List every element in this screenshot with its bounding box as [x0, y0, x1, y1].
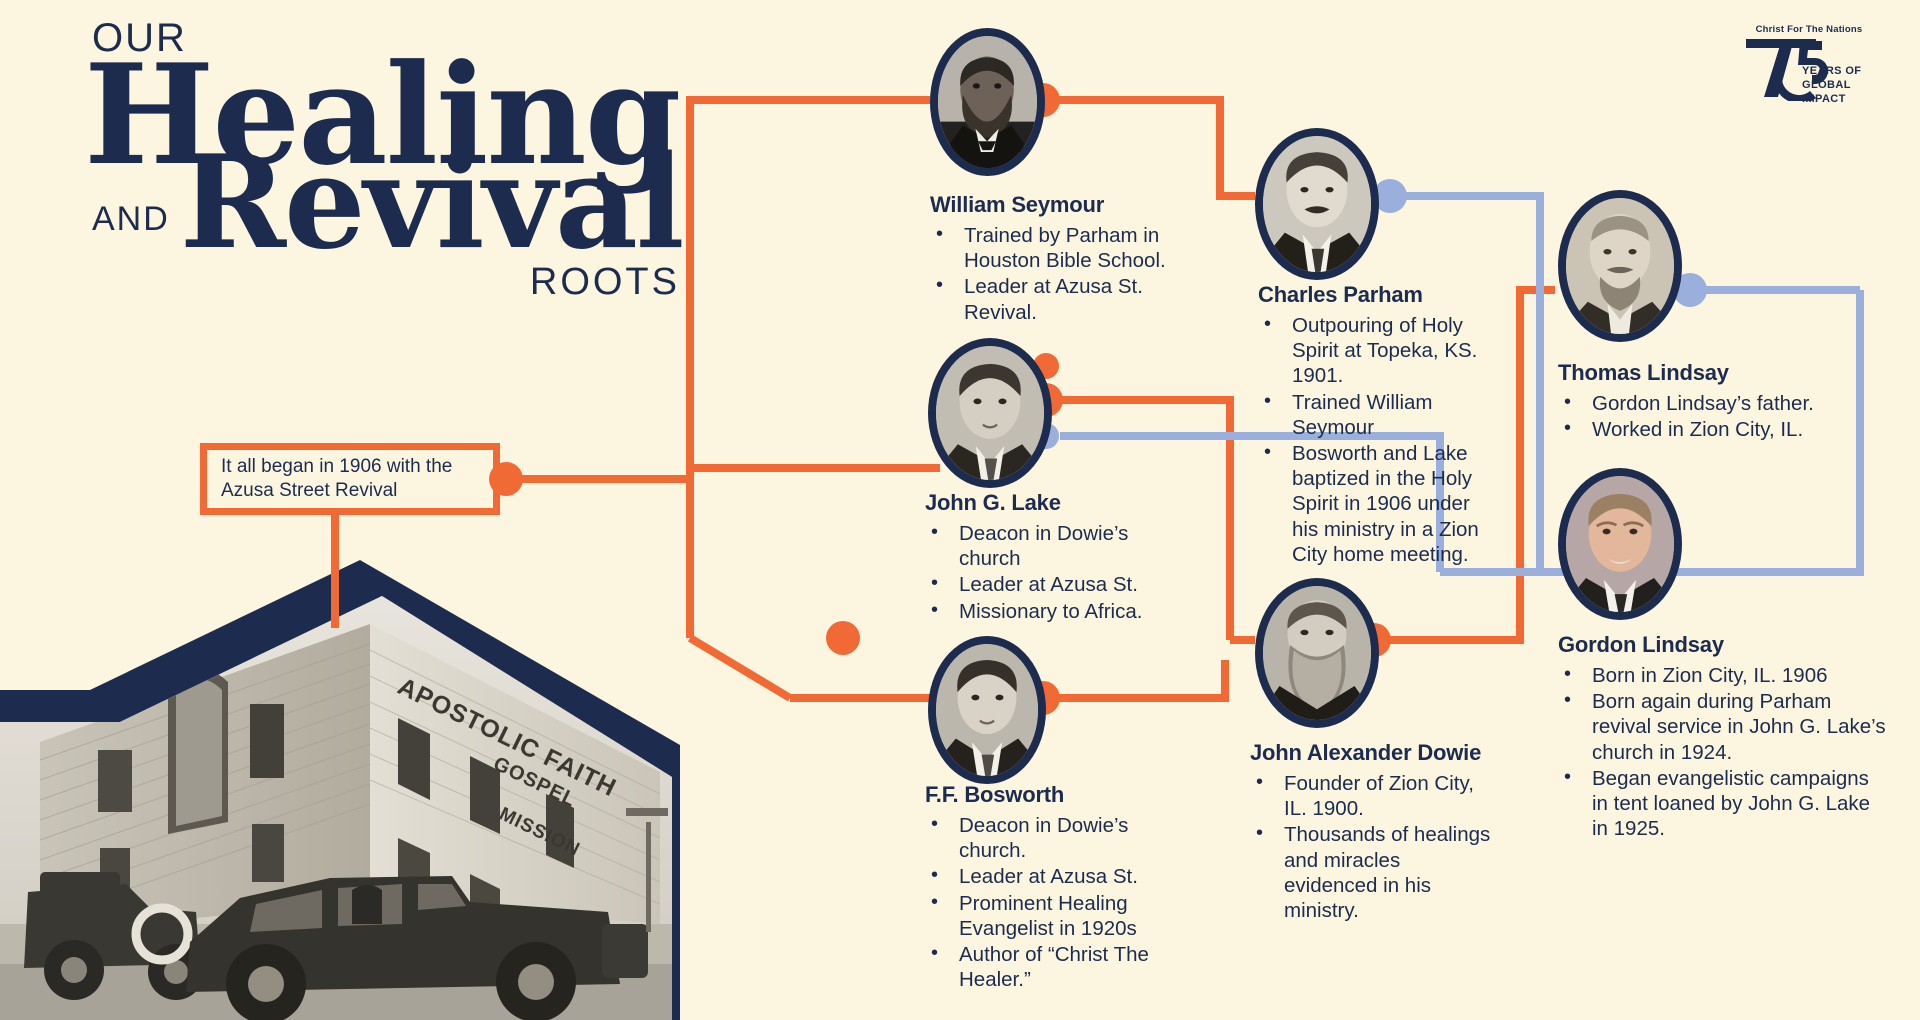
list-item: Trained by Parham in Houston Bible Schoo…	[930, 223, 1190, 273]
list-item: Worked in Zion City, IL.	[1558, 417, 1878, 442]
list-item: Leader at Azusa St.	[925, 864, 1190, 889]
portrait-john-g-lake[interactable]	[928, 338, 1052, 488]
portrait-john-alexander-dowie[interactable]	[1255, 578, 1379, 728]
list-item: Missionary to Africa.	[925, 599, 1187, 624]
list-item: Deacon in Dowie’s church.	[925, 813, 1190, 863]
person-block-ff-bosworth: F.F. Bosworth Deacon in Dowie’s church. …	[925, 782, 1190, 993]
portrait-william-seymour[interactable]	[930, 28, 1045, 176]
list-item: Outpouring of Holy Spirit at Topeka, KS.…	[1258, 313, 1498, 389]
person-bullets: Deacon in Dowie’s church Leader at Azusa…	[925, 521, 1187, 624]
list-item: Trained William Seymour	[1258, 390, 1498, 440]
person-block-charles-parham: Charles Parham Outpouring of Holy Spirit…	[1258, 282, 1498, 568]
person-name: William Seymour	[930, 192, 1190, 218]
callout-connector-dot	[489, 462, 523, 496]
list-item: Prominent Healing Evangelist in 1920s	[925, 891, 1190, 941]
origin-callout: It all began in 1906 with the Azusa Stre…	[200, 443, 500, 515]
callout-stem	[331, 513, 339, 628]
person-name: Thomas Lindsay	[1558, 360, 1878, 386]
portrait-gordon-lindsay[interactable]	[1558, 468, 1682, 620]
person-name: F.F. Bosworth	[925, 782, 1190, 808]
person-block-john-g-lake: John G. Lake Deacon in Dowie’s church Le…	[925, 490, 1187, 625]
list-item: Leader at Azusa St. Revival.	[930, 274, 1190, 324]
person-block-william-seymour: William Seymour Trained by Parham in Hou…	[930, 192, 1190, 326]
person-name: Charles Parham	[1258, 282, 1498, 308]
portrait-ff-bosworth[interactable]	[928, 636, 1046, 784]
origin-callout-text: It all began in 1906 with the Azusa Stre…	[207, 455, 493, 504]
person-block-john-alexander-dowie: John Alexander Dowie Founder of Zion Cit…	[1250, 740, 1498, 924]
person-bullets: Gordon Lindsay’s father. Worked in Zion …	[1558, 391, 1878, 442]
list-item: Founder of Zion City, IL. 1900.	[1250, 771, 1498, 821]
person-name: John Alexander Dowie	[1250, 740, 1498, 766]
list-item: Born in Zion City, IL. 1906	[1558, 663, 1888, 688]
person-bullets: Outpouring of Holy Spirit at Topeka, KS.…	[1258, 313, 1498, 567]
person-bullets: Deacon in Dowie’s church. Leader at Azus…	[925, 813, 1190, 992]
person-block-thomas-lindsay: Thomas Lindsay Gordon Lindsay’s father. …	[1558, 360, 1878, 443]
infographic-canvas: OUR Healing AND Revival ROOTS Christ For…	[0, 0, 1920, 1010]
list-item: Bosworth and Lake baptized in the Holy S…	[1258, 441, 1498, 567]
person-bullets: Born in Zion City, IL. 1906 Born again d…	[1558, 663, 1888, 841]
person-name: Gordon Lindsay	[1558, 632, 1888, 658]
portrait-thomas-lindsay[interactable]	[1558, 190, 1682, 342]
list-item: Deacon in Dowie’s church	[925, 521, 1187, 571]
list-item: Author of “Christ The Healer.”	[925, 942, 1190, 992]
list-item: Born again during Parham revival service…	[1558, 689, 1888, 765]
list-item: Began evangelistic campaigns in tent loa…	[1558, 766, 1888, 842]
portrait-charles-parham[interactable]	[1255, 128, 1379, 280]
list-item: Gordon Lindsay’s father.	[1558, 391, 1878, 416]
list-item: Thousands of healings and miracles evide…	[1250, 822, 1498, 923]
person-name: John G. Lake	[925, 490, 1187, 516]
list-item: Leader at Azusa St.	[925, 572, 1187, 597]
person-block-gordon-lindsay: Gordon Lindsay Born in Zion City, IL. 19…	[1558, 632, 1888, 842]
person-bullets: Trained by Parham in Houston Bible Schoo…	[930, 223, 1190, 325]
person-bullets: Founder of Zion City, IL. 1900. Thousand…	[1250, 771, 1498, 923]
